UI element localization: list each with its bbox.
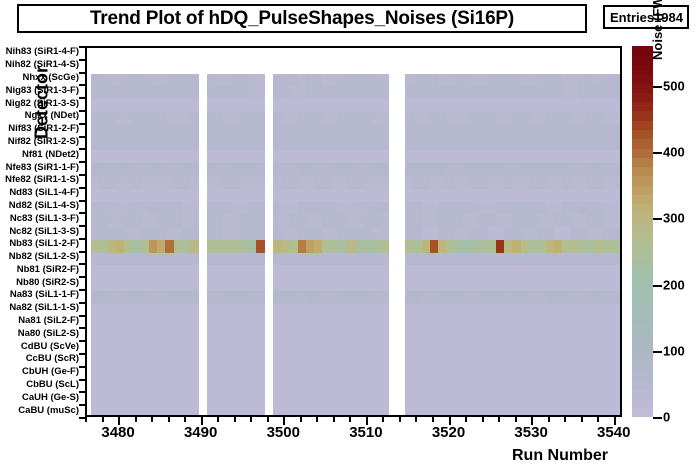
y-axis-tick-label: Nif82 (SiR1-2-S) (8, 137, 79, 147)
heatmap-cell (190, 150, 199, 163)
heatmap-cell (612, 393, 620, 406)
heatmap-cell (612, 176, 620, 189)
heatmap-cell (256, 86, 265, 99)
heatmap-cell (612, 74, 620, 87)
y-axis-tick-label: Na82 (SiL1-1-S) (9, 303, 79, 313)
heatmap-cell (190, 265, 199, 278)
heatmap-cell (380, 214, 389, 227)
heatmap-cell (256, 189, 265, 202)
palette-slice (632, 324, 653, 334)
heatmap-cell (190, 138, 199, 151)
y-axis-tick-label: Nc83 (SiL1-3-F) (10, 214, 79, 224)
palette-slice (632, 371, 653, 381)
heatmap-cell (190, 227, 199, 240)
heatmap-cell (190, 393, 199, 406)
palette-slice (632, 241, 653, 251)
palette-slice (632, 65, 653, 75)
heatmap-cell (612, 240, 620, 253)
heatmap-cell (256, 278, 265, 291)
y-axis-tick-label: Nig83 (SiR1-3-F) (6, 86, 79, 96)
trend-plot-canvas: Trend Plot of hDQ_PulseShapes_Noises (Si… (0, 0, 696, 472)
palette-slice (632, 408, 653, 417)
x-axis-tick (267, 417, 269, 422)
z-axis-tick-label: 500 (663, 78, 685, 93)
z-axis-tick-label: 400 (663, 145, 685, 160)
heatmap-cell (190, 355, 199, 368)
palette-slice (632, 194, 653, 204)
x-axis-tick (333, 417, 335, 422)
palette-slice (632, 232, 653, 242)
heatmap-cell (256, 329, 265, 342)
palette-slice (632, 129, 653, 139)
heatmap-cell (256, 112, 265, 125)
heatmap-cell (256, 368, 265, 381)
heatmap-cell (190, 406, 199, 415)
heatmap-cell (190, 125, 199, 138)
palette-slice (632, 92, 653, 102)
heatmap-cell (190, 112, 199, 125)
heatmap-cell (190, 74, 199, 87)
palette-slice (632, 102, 653, 112)
stats-entries-label: Entries (610, 10, 654, 25)
heatmap-cell (190, 202, 199, 215)
heatmap-cell (190, 214, 199, 227)
heatmap-cell (612, 189, 620, 202)
heatmap-cell (380, 304, 389, 317)
x-axis-tick (482, 417, 484, 422)
heatmap-cell (190, 381, 199, 394)
palette-slice (632, 287, 653, 297)
heatmap-cell (256, 381, 265, 394)
x-axis-tick-label: 3540 (597, 424, 630, 441)
x-axis-labels: 3480349035003510352035303540 (85, 424, 622, 444)
palette-slice (632, 83, 653, 93)
heatmap-cell (380, 125, 389, 138)
heatmap-cell (612, 163, 620, 176)
z-axis-labels: 0100200300400500 (663, 46, 696, 426)
heatmap-cell (190, 163, 199, 176)
plot-title-box: Trend Plot of hDQ_PulseShapes_Noises (Si… (17, 4, 587, 33)
x-axis-tick (168, 417, 170, 422)
y-axis-tick-label: Nfe82 (SiR1-1-S) (5, 175, 79, 185)
x-axis-tick (217, 417, 219, 422)
heatmap-cell (380, 227, 389, 240)
x-axis-tick (432, 417, 434, 422)
heatmap-cell (612, 138, 620, 151)
heatmap-cell (380, 406, 389, 415)
heatmap-cell (256, 163, 265, 176)
heatmap-cell (256, 227, 265, 240)
palette-slice (632, 176, 653, 186)
z-axis-tick (653, 218, 662, 220)
heatmap-cell (380, 189, 389, 202)
heatmap-cell (190, 342, 199, 355)
x-axis-tick (548, 417, 550, 422)
stats-box: Entries 1984 (603, 5, 689, 29)
z-axis-tick (653, 351, 662, 353)
heatmap-cell (612, 381, 620, 394)
heatmap-cell (190, 291, 199, 304)
heatmap-cell (256, 138, 265, 151)
y-axis-tick-label: CbUH (Ge-F) (22, 367, 79, 377)
x-axis-tick (498, 417, 500, 422)
z-axis-tick (653, 152, 662, 154)
x-axis-tick (151, 417, 153, 422)
heatmap-cell (256, 176, 265, 189)
x-axis-tick (316, 417, 318, 422)
palette-slice (632, 296, 653, 306)
palette-slice (632, 139, 653, 149)
heatmap-cell (190, 278, 199, 291)
heatmap-cell (612, 150, 620, 163)
heatmap-cell (256, 317, 265, 330)
heatmap-cell (380, 240, 389, 253)
heatmap-cell (380, 317, 389, 330)
palette-slice (632, 343, 653, 353)
palette-slice (632, 259, 653, 269)
heatmap-cell (380, 355, 389, 368)
x-axis-tick-label: 3490 (184, 424, 217, 441)
heatmap-cell (190, 176, 199, 189)
heatmap-cell (380, 253, 389, 266)
z-axis-tick-label: 300 (663, 211, 685, 226)
heatmap-cell (190, 317, 199, 330)
palette-slice (632, 389, 653, 399)
y-axis-tick-label: Nih82 (SiR1-4-S) (5, 60, 79, 70)
heatmap-cell (380, 112, 389, 125)
heatmap-cell (380, 291, 389, 304)
heatmap-cell (380, 278, 389, 291)
heatmap-cell (256, 253, 265, 266)
heatmap-cell (190, 368, 199, 381)
palette-slice (632, 380, 653, 390)
palette-slice (632, 204, 653, 214)
heatmap-cell (612, 214, 620, 227)
x-axis-tick (564, 417, 566, 422)
heatmap-cell (612, 125, 620, 138)
heatmap-cell (256, 202, 265, 215)
x-axis-tick (184, 417, 186, 422)
palette-slice (632, 398, 653, 408)
heatmap-cell (380, 202, 389, 215)
y-axis-tick-label: CaBU (muSc) (18, 406, 79, 416)
y-axis-tick-label: CbBU (ScL) (26, 380, 79, 390)
x-axis-title: Run Number (512, 447, 608, 465)
heatmap-cell (612, 317, 620, 330)
heatmap-cell (380, 381, 389, 394)
palette-slice (632, 167, 653, 177)
palette-slice (632, 278, 653, 288)
heatmap-cell (612, 368, 620, 381)
heatmap-cell (380, 163, 389, 176)
page-title: Trend Plot of hDQ_PulseShapes_Noises (Si… (90, 8, 514, 30)
palette-slice (632, 120, 653, 130)
color-palette-bar (632, 46, 653, 417)
heatmap-cell (256, 406, 265, 415)
x-axis-tick (300, 417, 302, 422)
z-axis-tick-label: 100 (663, 343, 685, 358)
y-axis-tick-label: Nif83 (SiR1-2-F) (8, 124, 79, 134)
heatmap-cell (380, 393, 389, 406)
x-axis-tick-label: 3480 (101, 424, 134, 441)
y-axis-tick-label: CaUH (Ge-S) (22, 393, 79, 403)
heatmap-cell (380, 74, 389, 87)
heatmap-cell (256, 240, 265, 253)
heatmap-cell (380, 342, 389, 355)
y-axis-tick-label: Nb83 (SiL1-2-F) (9, 239, 79, 249)
y-axis-tick-label: Nb81 (SiR2-F) (17, 265, 79, 275)
y-axis-tick-label: Na80 (SiL2-S) (18, 329, 79, 339)
heatmap-cell (612, 355, 620, 368)
heatmap-cell (380, 138, 389, 151)
x-axis-tick (399, 417, 401, 422)
heatmap-cell (612, 86, 620, 99)
x-axis-tick (581, 417, 583, 422)
y-axis-tick-label: Na83 (SiL1-1-F) (10, 290, 79, 300)
z-axis-tick (653, 285, 662, 287)
x-axis-tick-label: 3530 (514, 424, 547, 441)
plot-frame (85, 46, 622, 417)
heatmap-cell (256, 304, 265, 317)
heatmap-cell (256, 150, 265, 163)
x-axis-tick (102, 417, 104, 422)
y-axis-tick-label: CcBU (ScR) (26, 354, 79, 364)
palette-slice (632, 352, 653, 362)
palette-slice (632, 157, 653, 167)
z-axis-ticks (653, 46, 663, 417)
palette-slice (632, 185, 653, 195)
y-axis-tick-label: CdBU (ScVe) (21, 342, 79, 352)
palette-slice (632, 111, 653, 121)
x-axis-tick (597, 417, 599, 422)
palette-slice (632, 213, 653, 223)
x-axis-tick (250, 417, 252, 422)
heatmap-cells (87, 48, 620, 415)
z-axis-tick (653, 417, 662, 419)
palette-slice (632, 315, 653, 325)
palette-slice (632, 306, 653, 316)
heatmap-cell (256, 214, 265, 227)
palette-slice (632, 361, 653, 371)
y-axis-tick-label: Nb82 (SiL1-2-S) (9, 252, 79, 262)
heatmap-cell (380, 329, 389, 342)
y-axis-tick-label: Nd82 (SiL1-4-S) (9, 201, 79, 211)
palette-slice (632, 222, 653, 232)
heatmap-cell (256, 342, 265, 355)
heatmap-cell (256, 355, 265, 368)
x-axis-tick (515, 417, 517, 422)
x-axis-tick (85, 417, 87, 422)
x-axis-tick (135, 417, 137, 422)
y-axis-tick-label: Nc82 (SiL1-3-S) (9, 227, 79, 237)
x-axis-tick (465, 417, 467, 422)
palette-slice (632, 269, 653, 279)
y-axis-tick-label: Nfe83 (SiR1-1-F) (6, 163, 79, 173)
y-axis-tick-label: Nf81 (NDet2) (22, 150, 79, 160)
heatmap-cell (190, 329, 199, 342)
heatmap-cell (190, 304, 199, 317)
x-axis-tick-label: 3500 (267, 424, 300, 441)
y-axis-tick-label: Na81 (SiL2-F) (18, 316, 79, 326)
heatmap-cell (380, 99, 389, 112)
heatmap-cell (256, 291, 265, 304)
heatmap-cell (612, 342, 620, 355)
z-axis-tick-label: 0 (663, 410, 670, 425)
heatmap-cell (612, 406, 620, 415)
heatmap-cell (190, 189, 199, 202)
palette-slice (632, 334, 653, 344)
x-axis-tick-label: 3510 (349, 424, 382, 441)
heatmap-cell (612, 99, 620, 112)
heatmap-cell (612, 278, 620, 291)
x-axis-tick (415, 417, 417, 422)
y-axis-tick-label: Ngxx (NDet) (25, 111, 79, 121)
z-axis-tick-label: 200 (663, 277, 685, 292)
x-axis-tick (382, 417, 384, 422)
heatmap-cell (380, 368, 389, 381)
palette-slice (632, 148, 653, 158)
heatmap-cell (612, 291, 620, 304)
heatmap-cell (256, 265, 265, 278)
heatmap-cell (612, 253, 620, 266)
heatmap-cell (612, 329, 620, 342)
heatmap-cell (612, 227, 620, 240)
y-axis-tick-label: Nb80 (SiR2-S) (16, 278, 79, 288)
heatmap-cell (612, 304, 620, 317)
z-axis-title: Noise (FWHM) [ADC] (650, 0, 665, 60)
heatmap-cell (190, 86, 199, 99)
x-axis-tick-label: 3520 (432, 424, 465, 441)
heatmap-cell (380, 265, 389, 278)
palette-slice (632, 250, 653, 260)
heatmap-cell (256, 74, 265, 87)
x-axis-tick (349, 417, 351, 422)
heatmap-cell (380, 150, 389, 163)
heatmap-cell (256, 125, 265, 138)
y-axis-labels: Nih83 (SiR1-4-F)Nih82 (SiR1-4-S)Nhxx (Sc… (0, 46, 83, 417)
heatmap-cell (256, 99, 265, 112)
y-axis-tick-label: Nd83 (SiL1-4-F) (9, 188, 79, 198)
y-axis-tick-label: Nhxx (ScGe) (23, 73, 80, 83)
y-axis-tick-label: Nih83 (SiR1-4-F) (6, 47, 79, 57)
heatmap-cell (612, 265, 620, 278)
heatmap-cell (380, 86, 389, 99)
x-axis-tick (234, 417, 236, 422)
y-axis-tick-label: Nig82 (SiR1-3-S) (5, 99, 79, 109)
heatmap-cell (380, 176, 389, 189)
heatmap-cell (190, 99, 199, 112)
heatmap-cell (256, 393, 265, 406)
heatmap-cell (190, 253, 199, 266)
z-axis-tick (653, 86, 662, 88)
palette-slice (632, 74, 653, 84)
heatmap-cell (612, 112, 620, 125)
heatmap-cell (612, 202, 620, 215)
heatmap-cell (190, 240, 199, 253)
